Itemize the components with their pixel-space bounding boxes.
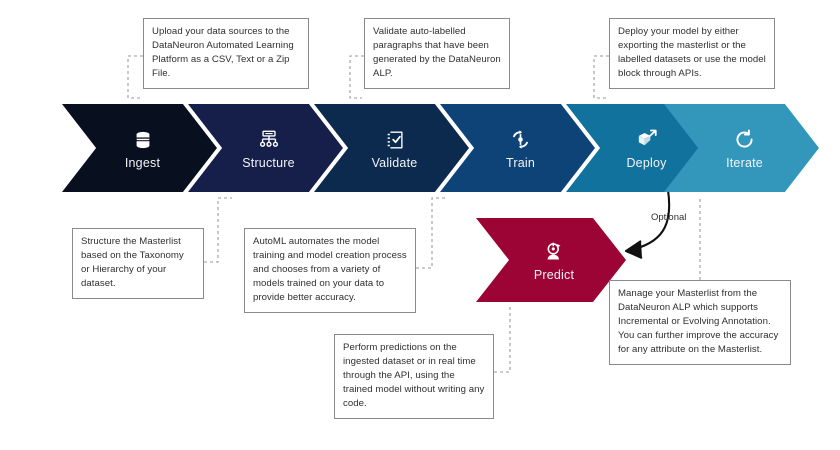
optional-label: Optional <box>651 212 686 223</box>
stage-label-deploy: Deploy <box>626 156 666 170</box>
stage-label-validate: Validate <box>372 156 418 170</box>
stage-ingest[interactable]: Ingest <box>62 104 217 192</box>
checklist-icon <box>382 127 408 153</box>
callout-ingest-note: Upload your data sources to the DataNeur… <box>143 18 309 89</box>
leader-deploy <box>594 56 609 98</box>
leader-predict <box>494 306 510 372</box>
callout-iterate-note: Manage your Masterlist from the DataNeur… <box>609 280 791 365</box>
optional-arrow <box>626 190 669 258</box>
callout-predict-note: Perform predictions on the ingested data… <box>334 334 494 419</box>
stage-label-structure: Structure <box>242 156 295 170</box>
leader-validate <box>350 56 364 98</box>
leader-train <box>416 198 447 268</box>
deploy-box-icon <box>634 127 660 153</box>
leader-ingest <box>128 56 143 98</box>
database-icon <box>130 127 156 153</box>
stage-label-iterate: Iterate <box>726 156 763 170</box>
stage-label-predict: Predict <box>534 268 574 282</box>
stage-predict[interactable]: Predict <box>476 218 626 302</box>
callout-structure-note: Structure the Masterlist based on the Ta… <box>72 228 204 299</box>
hierarchy-icon <box>256 127 282 153</box>
callout-train-note: AutoML automates the model training and … <box>244 228 416 313</box>
model-train-icon <box>508 127 534 153</box>
refresh-loop-icon <box>732 127 758 153</box>
leader-structure <box>204 198 232 262</box>
callout-deploy-note: Deploy your model by either exporting th… <box>609 18 775 89</box>
diagram-canvas: Optional Ingest <box>0 0 840 450</box>
stage-label-ingest: Ingest <box>125 156 160 170</box>
callout-validate-note: Validate auto-labelled paragraphs that h… <box>364 18 510 89</box>
stage-label-train: Train <box>506 156 535 170</box>
predict-target-icon <box>541 239 567 265</box>
